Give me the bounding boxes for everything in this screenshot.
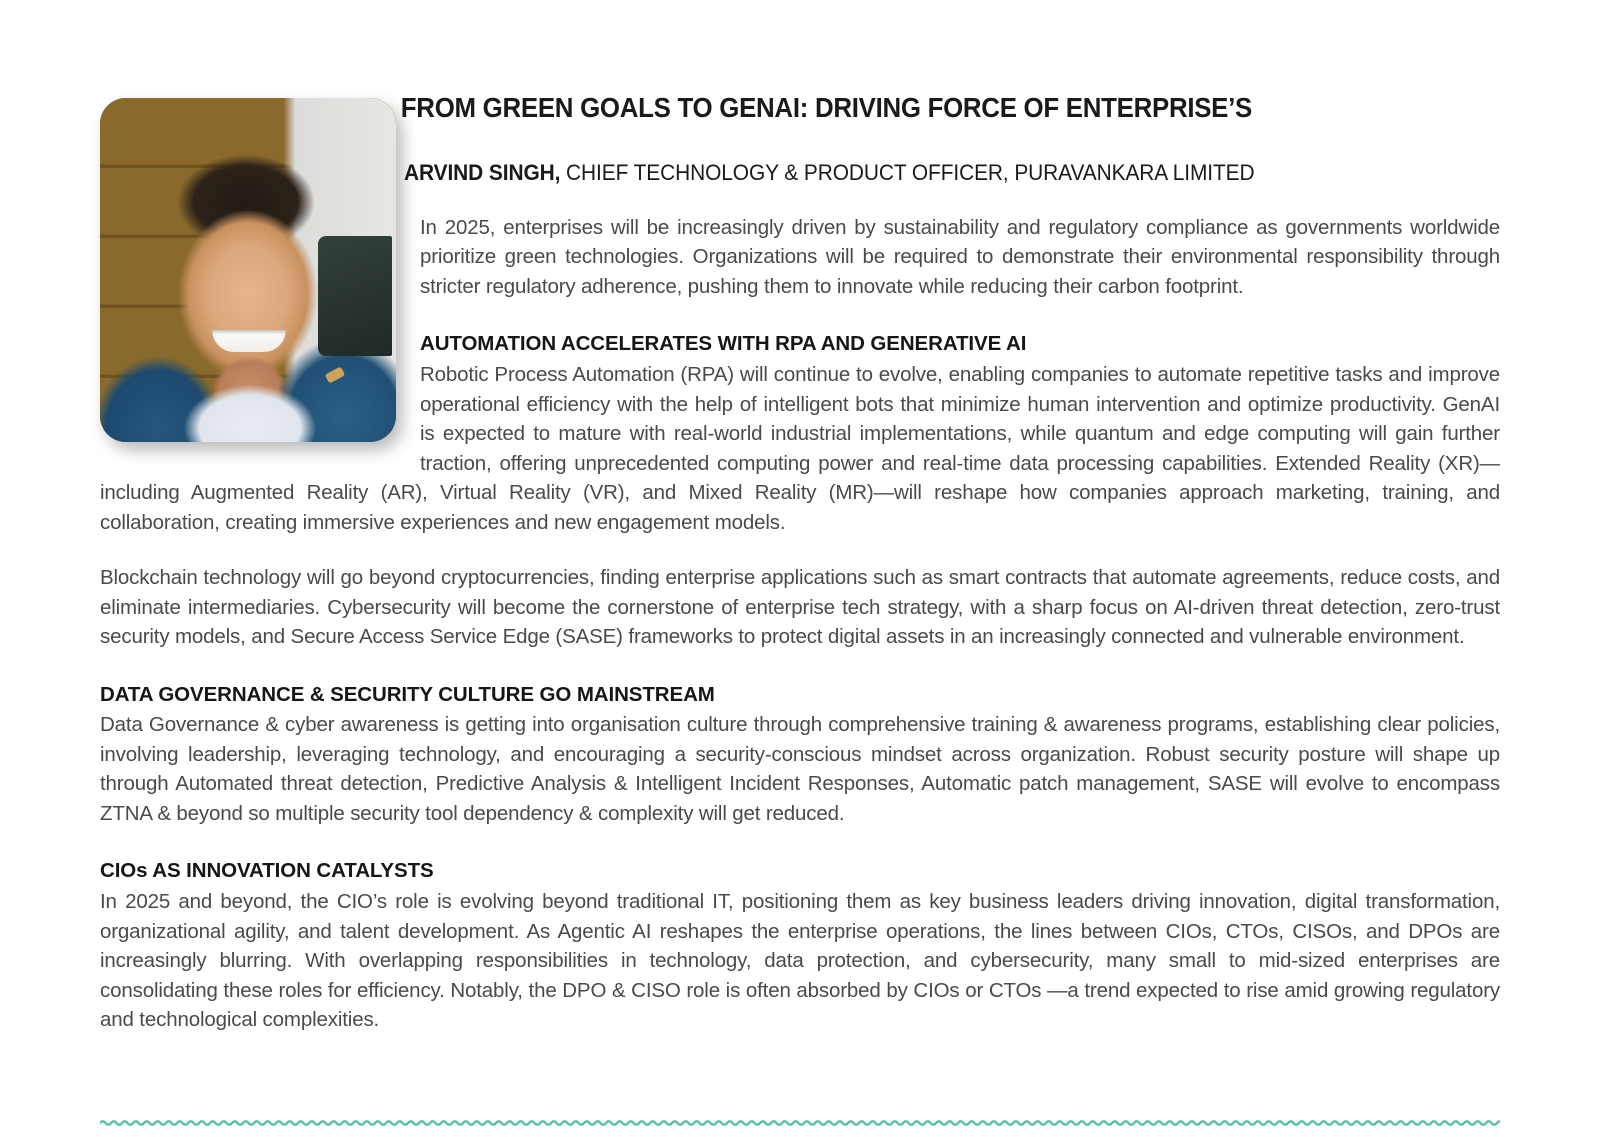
section-paragraph-data-governance: Data Governance & cyber awareness is get…	[100, 710, 1500, 828]
byline: ARVIND SINGH, CHIEF TECHNOLOGY & PRODUCT…	[100, 160, 1430, 186]
article-content: FROM GREEN GOALS TO GENAI: DRIVING FORCE…	[100, 92, 1500, 1035]
document-page: FROM GREEN GOALS TO GENAI: DRIVING FORCE…	[0, 0, 1600, 1137]
portrait-frame	[100, 98, 396, 442]
section-heading-data-governance: DATA GOVERNANCE & SECURITY CULTURE GO MA…	[100, 682, 1500, 709]
portrait-smile-detail	[212, 330, 286, 352]
portrait-image	[100, 98, 396, 442]
section-heading-cios: CIOs AS INNOVATION CATALYSTS	[100, 858, 1500, 885]
section-paragraph-blockchain: Blockchain technology will go beyond cry…	[100, 563, 1500, 652]
author-portrait	[100, 98, 396, 442]
section-paragraph-cios: In 2025 and beyond, the CIO’s role is ev…	[100, 887, 1500, 1035]
footer-wave-divider	[100, 1115, 1500, 1129]
page-title: FROM GREEN GOALS TO GENAI: DRIVING FORCE…	[100, 92, 1416, 124]
author-name: ARVIND SINGH,	[404, 160, 560, 185]
author-role: CHIEF TECHNOLOGY & PRODUCT OFFICER, PURA…	[560, 160, 1254, 185]
